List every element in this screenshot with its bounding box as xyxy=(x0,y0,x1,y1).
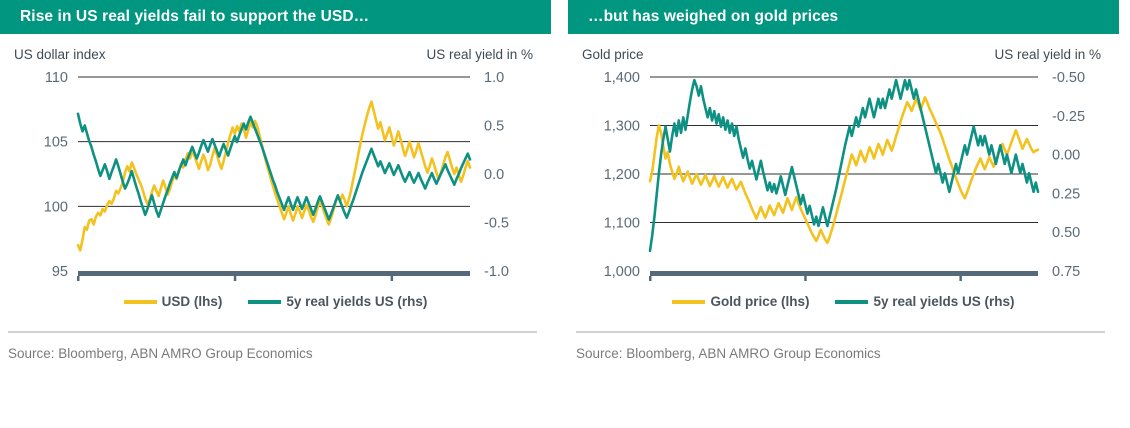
x-axis-tick-label: 17 xyxy=(954,286,970,288)
legend-item[interactable]: Gold price (lhs) xyxy=(672,294,809,309)
x-axis-tick xyxy=(804,276,807,281)
left-axis-tick-label: 110 xyxy=(45,70,68,86)
left-axis-caption: Gold price xyxy=(582,47,644,62)
panel-gold: …but has weighed on gold prices Gold pri… xyxy=(568,0,1119,428)
right-axis-tick-label: 0.75 xyxy=(1052,264,1080,280)
plot-area-gold: 1,4001,3001,2001,1001,000-0.50-0.250.000… xyxy=(568,66,1119,288)
x-axis-tick xyxy=(391,276,394,281)
series-line xyxy=(650,80,1038,251)
legend-item[interactable]: 5y real yields US (rhs) xyxy=(248,294,427,309)
source-divider xyxy=(8,331,537,333)
right-axis-caption: US real yield in % xyxy=(994,47,1101,62)
legend-gold: Gold price (lhs) 5y real yields US (rhs) xyxy=(568,294,1119,309)
x-axis-bar xyxy=(650,271,1038,276)
axis-captions-gold: Gold price US real yield in % xyxy=(568,34,1119,62)
right-axis-tick-label: 0.25 xyxy=(1052,186,1080,202)
left-axis-tick-label: 95 xyxy=(52,264,68,280)
x-axis-tick xyxy=(77,276,80,281)
x-axis-bar xyxy=(78,271,470,276)
left-axis-tick-label: 1,200 xyxy=(604,167,640,183)
right-axis-tick-label: -0.25 xyxy=(1052,109,1085,125)
chart-board: Rise in US real yields fail to support t… xyxy=(0,0,1130,428)
axis-captions-usd: US dollar index US real yield in % xyxy=(0,34,551,62)
plot-area-usd: 110105100951.00.50.0-0.5-1.0151617 xyxy=(0,66,551,288)
legend-swatch-teal xyxy=(835,300,868,304)
left-axis-tick-label: 100 xyxy=(44,199,68,215)
left-axis-tick-label: 1,400 xyxy=(604,70,640,86)
left-axis-tick-label: 1,300 xyxy=(604,119,640,135)
right-axis-tick-label: -1.0 xyxy=(484,264,509,280)
series-line xyxy=(78,114,470,220)
series-line xyxy=(650,97,1038,243)
right-axis-tick-label: 0.00 xyxy=(1052,148,1080,164)
line-chart-usd: 110105100951.00.50.0-0.5-1.0151617 xyxy=(0,66,551,288)
x-axis-tick xyxy=(649,276,652,281)
x-axis-tick xyxy=(234,276,237,281)
legend-swatch-gold xyxy=(672,300,705,304)
legend-usd: USD (lhs) 5y real yields US (rhs) xyxy=(0,294,551,309)
x-axis-tick-label: 15 xyxy=(72,286,88,288)
panel-header-gold: …but has weighed on gold prices xyxy=(568,0,1119,34)
source-note: Source: Bloomberg, ABN AMRO Group Econom… xyxy=(576,346,1119,361)
legend-swatch-gold xyxy=(124,300,157,304)
left-axis-tick-label: 105 xyxy=(44,135,68,151)
panel-title: …but has weighed on gold prices xyxy=(588,8,838,26)
right-axis-tick-label: 1.0 xyxy=(484,70,504,86)
right-axis-tick-label: 0.50 xyxy=(1052,225,1080,241)
right-axis-caption: US real yield in % xyxy=(426,47,533,62)
left-axis-tick-label: 1,000 xyxy=(604,264,640,280)
legend-label: 5y real yields US (rhs) xyxy=(873,294,1014,309)
legend-label: 5y real yields US (rhs) xyxy=(286,294,427,309)
panel-title: Rise in US real yields fail to support t… xyxy=(20,8,369,26)
panel-usd: Rise in US real yields fail to support t… xyxy=(0,0,551,428)
x-axis-tick-label: 17 xyxy=(386,286,402,288)
left-axis-tick-label: 1,100 xyxy=(604,216,640,232)
legend-label: USD (lhs) xyxy=(162,294,223,309)
left-axis-caption: US dollar index xyxy=(14,47,106,62)
right-axis-tick-label: -0.50 xyxy=(1052,70,1085,86)
right-axis-tick-label: 0.0 xyxy=(484,167,504,183)
right-axis-tick-label: -0.5 xyxy=(484,216,509,232)
legend-label: Gold price (lhs) xyxy=(710,294,809,309)
x-axis-tick-label: 15 xyxy=(644,286,660,288)
legend-swatch-teal xyxy=(248,300,281,304)
legend-item[interactable]: 5y real yields US (rhs) xyxy=(835,294,1014,309)
panel-header-usd: Rise in US real yields fail to support t… xyxy=(0,0,551,34)
source-divider xyxy=(576,331,1105,333)
source-note: Source: Bloomberg, ABN AMRO Group Econom… xyxy=(8,346,551,361)
right-axis-tick-label: 0.5 xyxy=(484,119,504,135)
x-axis-tick xyxy=(959,276,962,281)
x-axis-tick-label: 16 xyxy=(799,286,815,288)
line-chart-gold: 1,4001,3001,2001,1001,000-0.50-0.250.000… xyxy=(568,66,1119,288)
x-axis-tick-label: 16 xyxy=(229,286,245,288)
legend-item[interactable]: USD (lhs) xyxy=(124,294,223,309)
